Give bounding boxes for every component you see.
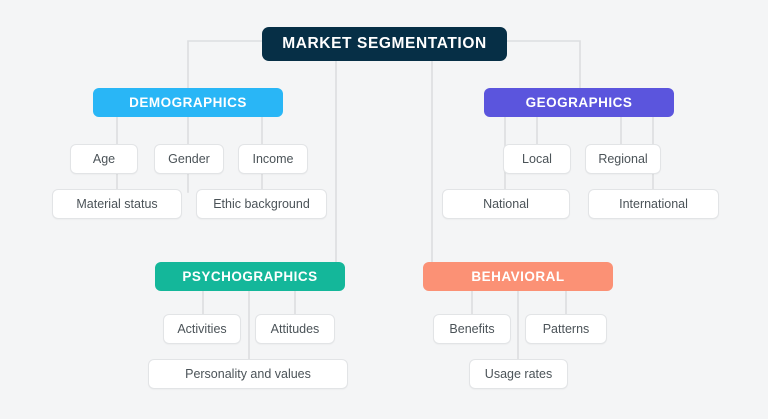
root-node-market-segmentation[interactable]: MARKET SEGMENTATION	[262, 27, 507, 61]
leaf-node[interactable]: Ethic background	[196, 189, 327, 219]
category-node-geographics[interactable]: GEOGRAPHICS	[484, 88, 674, 117]
leaf-node[interactable]: International	[588, 189, 719, 219]
leaf-node[interactable]: Personality and values	[148, 359, 348, 389]
diagram-canvas: MARKET SEGMENTATIONDEMOGRAPHICSAgeGender…	[0, 0, 768, 419]
leaf-node[interactable]: Attitudes	[255, 314, 335, 344]
leaf-node[interactable]: Local	[503, 144, 571, 174]
leaf-node[interactable]: Age	[70, 144, 138, 174]
leaf-node[interactable]: National	[442, 189, 570, 219]
leaf-node[interactable]: Material status	[52, 189, 182, 219]
category-node-psychographics[interactable]: PSYCHOGRAPHICS	[155, 262, 345, 291]
leaf-node[interactable]: Usage rates	[469, 359, 568, 389]
category-node-behavioral[interactable]: BEHAVIORAL	[423, 262, 613, 291]
leaf-node[interactable]: Regional	[585, 144, 661, 174]
category-node-demographics[interactable]: DEMOGRAPHICS	[93, 88, 283, 117]
leaf-node[interactable]: Patterns	[525, 314, 607, 344]
leaf-node[interactable]: Activities	[163, 314, 241, 344]
leaf-node[interactable]: Gender	[154, 144, 224, 174]
leaf-node[interactable]: Income	[238, 144, 308, 174]
leaf-node[interactable]: Benefits	[433, 314, 511, 344]
